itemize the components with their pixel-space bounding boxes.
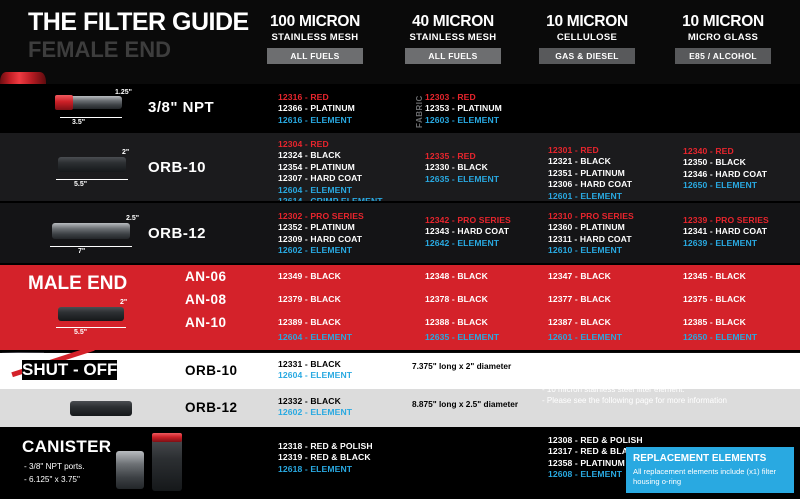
part-line: 12604 - ELEMENT <box>278 185 383 196</box>
part-line: 12335 - RED <box>425 151 499 162</box>
dim-rule-orb12 <box>50 246 132 247</box>
canister-image-2 <box>152 437 182 491</box>
part-line: 12339 - PRO SERIES <box>683 215 769 226</box>
cell-an08-col4: 12375 - BLACK <box>683 294 746 305</box>
cell-orb12-col2: 12342 - PRO SERIES 12343 - HARD COAT 126… <box>425 215 511 249</box>
table-row-orb10: 2" 5.5" ORB-10 12304 - RED 12324 - BLACK… <box>0 133 800 201</box>
column-header-2: 40 MICRON STAINLESS MESH ALL FUELS <box>388 14 518 64</box>
part-line: 12343 - HARD COAT <box>425 226 511 237</box>
filter-image-male <box>58 307 124 321</box>
part-line: 12603 - ELEMENT <box>425 115 502 126</box>
part-line: 12330 - BLACK <box>425 162 499 173</box>
table-row-orb12: 2.5" 7" ORB-12 12302 - PRO SERIES 12352 … <box>0 203 800 263</box>
row-size-an10: AN-10 <box>185 315 227 330</box>
part-line: 12385 - BLACK <box>683 317 746 328</box>
section-male-end: MALE END 2" 5.5" AN-06 AN-08 AN-10 12349… <box>0 265 800 350</box>
part-line: 12635 - ELEMENT <box>425 174 499 185</box>
part-line: 12604 - ELEMENT <box>278 370 352 381</box>
filter-image-orb10 <box>58 157 126 172</box>
row-size-an08: AN-08 <box>185 292 227 307</box>
section-title-male: MALE END <box>28 273 127 295</box>
part-line: 12307 - HARD COAT <box>278 173 383 184</box>
column-4-material: MICRO GLASS <box>658 32 788 43</box>
section-title-shutoff: SHUT - OFF <box>22 360 117 380</box>
part-line: 12349 - BLACK <box>278 271 341 282</box>
column-1-material: STAINLESS MESH <box>250 32 380 43</box>
dim-height-npt: 1.25" <box>115 89 132 96</box>
replacement-body: All replacement elements include (x1) fi… <box>633 467 787 487</box>
part-line: 12378 - BLACK <box>425 294 488 305</box>
column-header-1: 100 MICRON STAINLESS MESH ALL FUELS <box>250 14 380 64</box>
features-line: - 10 micron stainless steel filter eleme… <box>542 384 772 396</box>
filter-guide-page: THE FILTER GUIDE FEMALE END 100 MICRON S… <box>0 0 800 499</box>
part-line: 12331 - BLACK <box>278 359 352 370</box>
filter-end-red <box>55 95 73 110</box>
cell-canister-col1: 12318 - RED & POLISH 12319 - RED & BLACK… <box>278 441 373 475</box>
part-line: 12650 - ELEMENT <box>683 332 757 343</box>
features-line: - Please see the following page for more… <box>542 395 772 407</box>
cell-shutoff-orb12-col1: 12332 - BLACK 12602 - ELEMENT <box>278 396 352 419</box>
cell-an06-col2: 12348 - BLACK <box>425 271 488 282</box>
cell-orb10-col2: 12335 - RED 12330 - BLACK 12635 - ELEMEN… <box>425 151 499 185</box>
dim-length-male: 5.5" <box>74 329 87 336</box>
part-line: 12639 - ELEMENT <box>683 238 769 249</box>
part-line: 12303 - RED <box>425 92 502 103</box>
features-title: Features <box>542 358 772 369</box>
part-line: 12311 - HARD COAT <box>548 234 634 245</box>
part-line: 12377 - BLACK <box>548 294 611 305</box>
dim-height-orb12: 2.5" <box>126 215 139 222</box>
column-4-micron: 10 MICRON <box>658 14 788 30</box>
part-line: 12388 - BLACK <box>425 317 488 328</box>
features-line: - Proprietary stainless steel shutoff va… <box>542 372 772 384</box>
part-line: 12347 - BLACK <box>548 271 611 282</box>
part-line: 12375 - BLACK <box>683 294 746 305</box>
table-row-npt: 1.25" 3.5" 3/8" NPT 12316 - RED 12366 - … <box>0 84 800 131</box>
part-line: 12650 - ELEMENT <box>683 180 767 191</box>
part-line: 12318 - RED & POLISH <box>278 441 373 452</box>
part-line: 12309 - HARD COAT <box>278 234 364 245</box>
part-line: 12366 - PLATINUM <box>278 103 408 114</box>
canister-image-1 <box>116 451 144 489</box>
row-size-orb10: ORB-10 <box>148 159 206 176</box>
section-title-canister: CANISTER <box>22 437 111 457</box>
cell-an10-col3: 12387 - BLACK <box>548 317 611 328</box>
shutoff-orb12-dimension-note: 8.875" long x 2.5" diameter <box>412 399 518 409</box>
part-line: 12351 - PLATINUM <box>548 168 632 179</box>
column-2-micron: 40 MICRON <box>388 14 518 30</box>
cell-male-element-col3: 12601 - ELEMENT <box>548 332 622 343</box>
dim-height-orb10: 2" <box>122 149 129 156</box>
part-line: 12341 - HARD COAT <box>683 226 769 237</box>
part-line: 12618 - ELEMENT <box>278 464 373 475</box>
part-line: 12352 - PLATINUM <box>278 222 364 233</box>
part-line: 12387 - BLACK <box>548 317 611 328</box>
replacement-elements-callout: REPLACEMENT ELEMENTS All replacement ele… <box>626 447 794 493</box>
cell-an08-col2: 12378 - BLACK <box>425 294 488 305</box>
column-1-fuel-badge: ALL FUELS <box>267 48 363 64</box>
part-line: 12610 - ELEMENT <box>548 245 634 256</box>
cell-orb12-col4: 12339 - PRO SERIES 12341 - HARD COAT 126… <box>683 215 769 249</box>
column-3-fuel-badge: GAS & DIESEL <box>539 48 635 64</box>
part-line: 12324 - BLACK <box>278 150 383 161</box>
dim-length-orb12: 7" <box>78 248 85 255</box>
cell-an10-col2: 12388 - BLACK <box>425 317 488 328</box>
part-line: 12332 - BLACK <box>278 396 352 407</box>
dim-length-npt: 3.5" <box>72 119 85 126</box>
part-line: 12321 - BLACK <box>548 156 632 167</box>
cell-an08-col1: 12379 - BLACK <box>278 294 341 305</box>
part-line: 12635 - ELEMENT <box>425 332 499 343</box>
row-size-an06: AN-06 <box>185 269 227 284</box>
row-size-shutoff-orb10: ORB-10 <box>185 363 238 378</box>
part-line: 12306 - HARD COAT <box>548 179 632 190</box>
cell-orb10-col3: 12301 - RED 12321 - BLACK 12351 - PLATIN… <box>548 145 632 202</box>
shutoff-orb10-dimension-note: 7.375" long x 2" diameter <box>412 361 511 371</box>
part-line: 12302 - PRO SERIES <box>278 211 364 222</box>
part-line: 12616 - ELEMENT <box>278 115 408 126</box>
cell-npt-col2: 12303 - RED 12353 - PLATINUM 12603 - ELE… <box>425 92 502 126</box>
part-line: 12601 - ELEMENT <box>548 332 622 343</box>
part-line: 12316 - RED <box>278 92 408 103</box>
part-line: 12604 - ELEMENT <box>278 332 352 343</box>
part-line: 12350 - BLACK <box>683 157 767 168</box>
row-size-shutoff-orb12: ORB-12 <box>185 400 238 415</box>
part-line: 12353 - PLATINUM <box>425 103 502 114</box>
cell-an06-col4: 12345 - BLACK <box>683 271 746 282</box>
part-line: 12342 - PRO SERIES <box>425 215 511 226</box>
cell-male-element-col2: 12635 - ELEMENT <box>425 332 499 343</box>
column-2-material: STAINLESS MESH <box>388 32 518 43</box>
cell-an06-col1: 12349 - BLACK <box>278 271 341 282</box>
cell-npt-col1: 12316 - RED 12366 - PLATINUM 12616 - ELE… <box>278 92 408 126</box>
row-size-npt: 3/8" NPT <box>148 99 214 116</box>
part-line: 12642 - ELEMENT <box>425 238 511 249</box>
section-title-female: FEMALE END <box>28 39 278 61</box>
column-3-material: CELLULOSE <box>522 32 652 43</box>
fabric-label: FABRIC <box>415 95 424 128</box>
part-line: 12379 - BLACK <box>278 294 341 305</box>
cell-male-element-col4: 12650 - ELEMENT <box>683 332 757 343</box>
title-block: THE FILTER GUIDE FEMALE END <box>28 10 278 61</box>
part-line: 12348 - BLACK <box>425 271 488 282</box>
cell-male-element-col1: 12604 - ELEMENT <box>278 332 352 343</box>
part-line: 12319 - RED & BLACK <box>278 452 373 463</box>
row-size-orb12: ORB-12 <box>148 225 206 242</box>
cell-an10-col1: 12389 - BLACK <box>278 317 341 328</box>
cell-orb10-col1: 12304 - RED 12324 - BLACK 12354 - PLATIN… <box>278 139 383 207</box>
cell-orb12-col1: 12302 - PRO SERIES 12352 - PLATINUM 1230… <box>278 211 364 257</box>
column-3-micron: 10 MICRON <box>522 14 652 30</box>
cell-orb10-col4: 12340 - RED 12350 - BLACK 12346 - HARD C… <box>683 146 767 192</box>
dim-length-orb10: 5.5" <box>74 181 87 188</box>
column-2-fuel-badge: ALL FUELS <box>405 48 501 64</box>
column-header-4: 10 MICRON MICRO GLASS E85 / ALCOHOL <box>658 14 788 64</box>
dim-rule-orb10 <box>56 179 128 180</box>
cell-shutoff-orb10-col1: 12331 - BLACK 12604 - ELEMENT <box>278 359 352 382</box>
part-line: 12340 - RED <box>683 146 767 157</box>
column-4-fuel-badge: E85 / ALCOHOL <box>675 48 771 64</box>
canister-note-2: - 6.125" x 3.75" <box>24 474 80 486</box>
part-line: 12304 - RED <box>278 139 383 150</box>
part-line: 12602 - ELEMENT <box>278 245 364 256</box>
part-line: 12346 - HARD COAT <box>683 169 767 180</box>
filter-image-shutoff <box>70 401 132 416</box>
column-1-micron: 100 MICRON <box>250 14 380 30</box>
part-line: 12345 - BLACK <box>683 271 746 282</box>
cell-an10-col4: 12385 - BLACK <box>683 317 746 328</box>
part-line: 12354 - PLATINUM <box>278 162 383 173</box>
cell-an08-col3: 12377 - BLACK <box>548 294 611 305</box>
features-box: Features - Proprietary stainless steel s… <box>542 358 772 407</box>
filter-image-orb12 <box>52 223 130 239</box>
cell-an06-col3: 12347 - BLACK <box>548 271 611 282</box>
dim-rule-npt <box>60 117 122 118</box>
dim-height-male: 2" <box>120 299 127 306</box>
dim-rule-male <box>56 327 126 328</box>
canister-red-cap <box>152 433 182 442</box>
part-line: 12389 - BLACK <box>278 317 341 328</box>
part-line: 12301 - RED <box>548 145 632 156</box>
part-line: 12310 - PRO SERIES <box>548 211 634 222</box>
column-header-3: 10 MICRON CELLULOSE GAS & DIESEL <box>522 14 652 64</box>
part-line: 12308 - RED & POLISH <box>548 435 643 446</box>
replacement-title: REPLACEMENT ELEMENTS <box>633 453 787 464</box>
canister-note-1: - 3/8" NPT ports. <box>24 461 85 473</box>
part-line: 12360 - PLATINUM <box>548 222 634 233</box>
row-divider <box>0 350 800 352</box>
page-title: THE FILTER GUIDE <box>28 10 278 35</box>
part-line: 12602 - ELEMENT <box>278 407 352 418</box>
cell-orb12-col3: 12310 - PRO SERIES 12360 - PLATINUM 1231… <box>548 211 634 257</box>
